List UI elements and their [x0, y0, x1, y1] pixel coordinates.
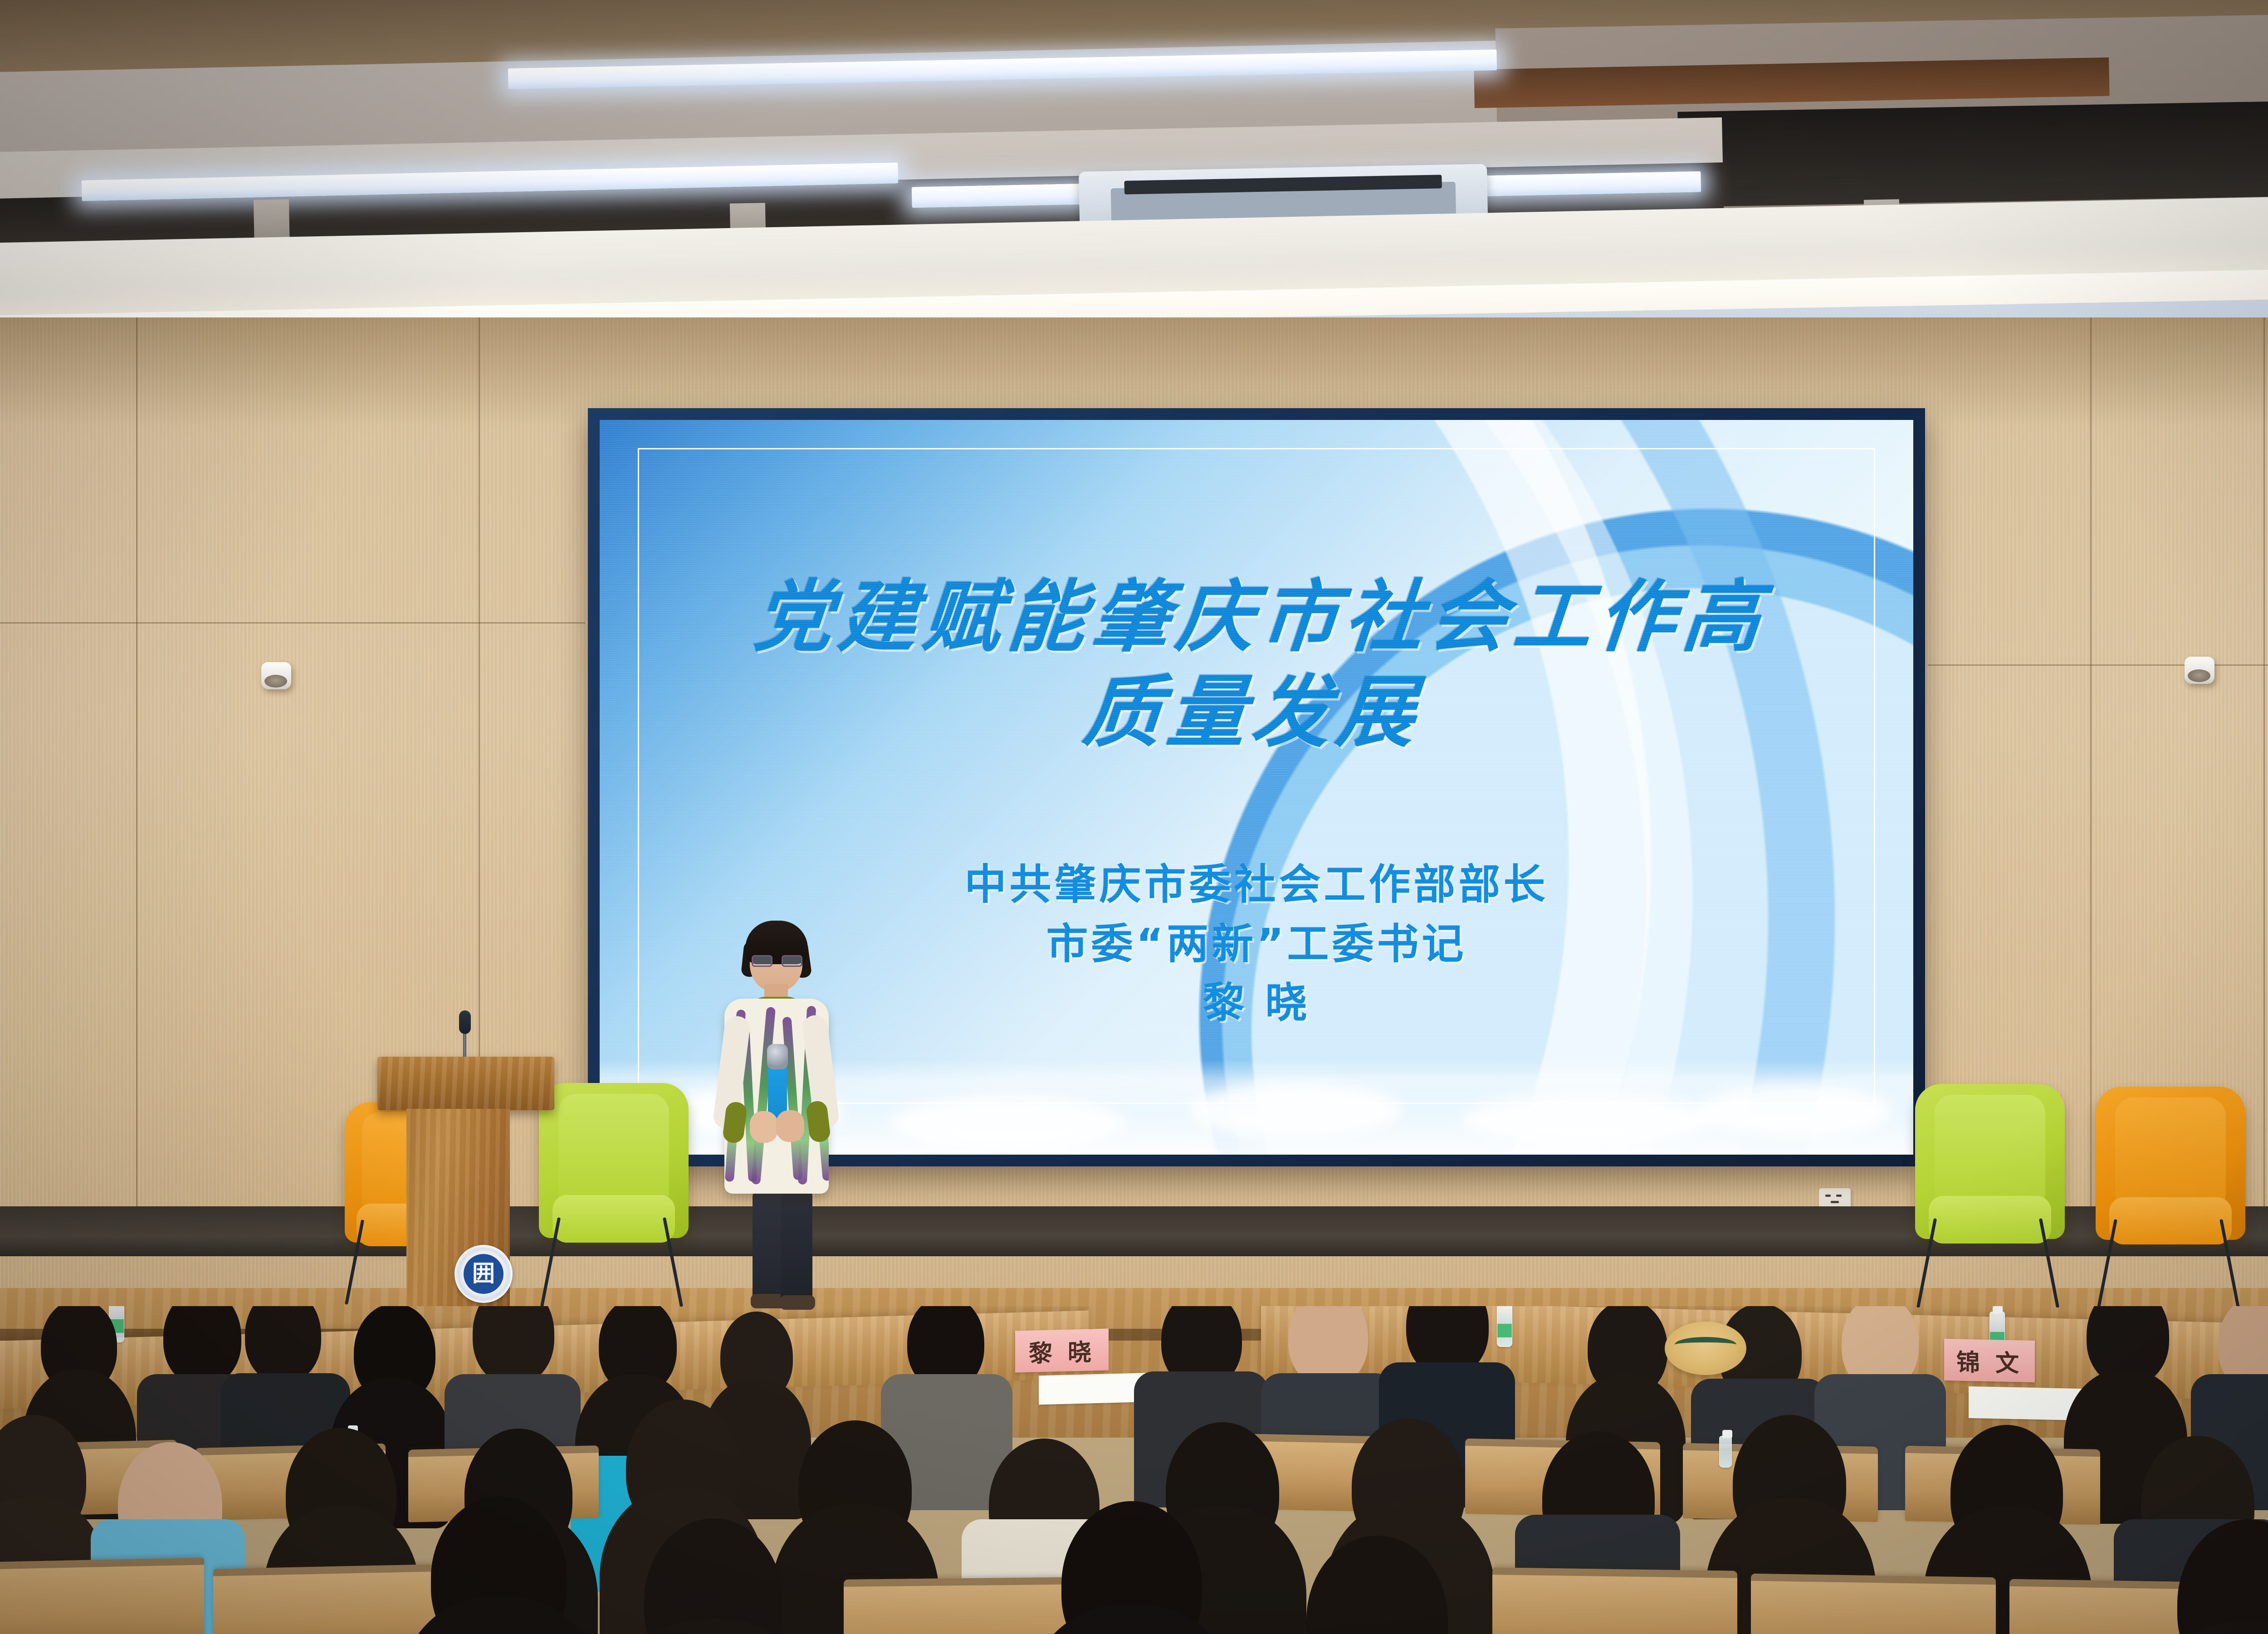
institution-emblem-icon: 囲	[455, 1245, 513, 1303]
slide-subtitle-line1: 中共肇庆市委社会工作部部长	[600, 855, 1913, 915]
emblem-glyph: 囲	[464, 1262, 503, 1285]
podium[interactable]: 囲	[377, 1025, 554, 1306]
name-card-2: 锦 文	[1944, 1339, 2035, 1382]
wall-seam-h-left	[0, 622, 585, 624]
wall-seam-v3	[2090, 317, 2092, 1224]
microphone-head-icon	[767, 1044, 788, 1069]
speaker-grille-icon	[264, 675, 287, 688]
gooseneck-microphone-icon[interactable]	[459, 1010, 471, 1034]
seat-back[interactable]	[844, 1577, 1089, 1634]
straw-hat	[1665, 1322, 1746, 1375]
seat-back[interactable]	[213, 1564, 454, 1634]
auditorium-scene: 党建赋能肇庆市社会工作高 质量发展 中共肇庆市委社会工作部部长 市委“两新”工委…	[0, 0, 2268, 1634]
chair-green-left[interactable]	[539, 1083, 689, 1298]
name-card-1: 黎 晓	[1015, 1328, 1109, 1372]
presenter	[701, 921, 850, 1311]
audience-head	[473, 1306, 554, 1384]
slide-title: 党建赋能肇庆市社会工作高 质量发展	[600, 570, 1913, 760]
seat-back[interactable]	[1492, 1567, 1737, 1634]
presenter-hand-right	[776, 1110, 804, 1142]
speaker-grille-icon	[2188, 669, 2210, 682]
ceiling-recess-right	[1677, 97, 2268, 207]
presenter-glasses-icon	[752, 955, 802, 967]
podium-top	[377, 1057, 554, 1110]
ceiling	[0, 0, 2268, 345]
slide-title-line2: 质量发展	[600, 665, 1913, 760]
water-bottle-6[interactable]	[1719, 1436, 1732, 1468]
chair-orange-right[interactable]	[2096, 1087, 2245, 1300]
audience-head	[163, 1306, 241, 1385]
presenter-leg-left	[753, 1188, 784, 1304]
seat-back[interactable]	[1751, 1574, 1996, 1634]
water-bottle-3[interactable]	[1497, 1306, 1512, 1347]
presenter-leg-right	[781, 1188, 812, 1305]
wall-seam-v4	[2263, 317, 2265, 1224]
podium-body: 囲	[406, 1109, 510, 1306]
wall-seam-h-right	[1928, 664, 2268, 666]
audience-area: 黎 晓 锦 文	[0, 1306, 2268, 1634]
wall-speaker-left	[261, 662, 291, 689]
wall-seam-v1	[136, 317, 137, 1224]
slide-title-line1: 党建赋能肇庆市社会工作高	[600, 570, 1913, 665]
emblem-core: 囲	[464, 1254, 503, 1294]
podium-top-grain	[377, 1057, 554, 1110]
chair-green-right[interactable]	[1915, 1084, 2065, 1299]
seat-back[interactable]	[0, 1557, 204, 1634]
audience-head	[245, 1306, 321, 1382]
presenter-hand-left	[750, 1111, 778, 1143]
wall-speaker-right	[2185, 657, 2214, 684]
